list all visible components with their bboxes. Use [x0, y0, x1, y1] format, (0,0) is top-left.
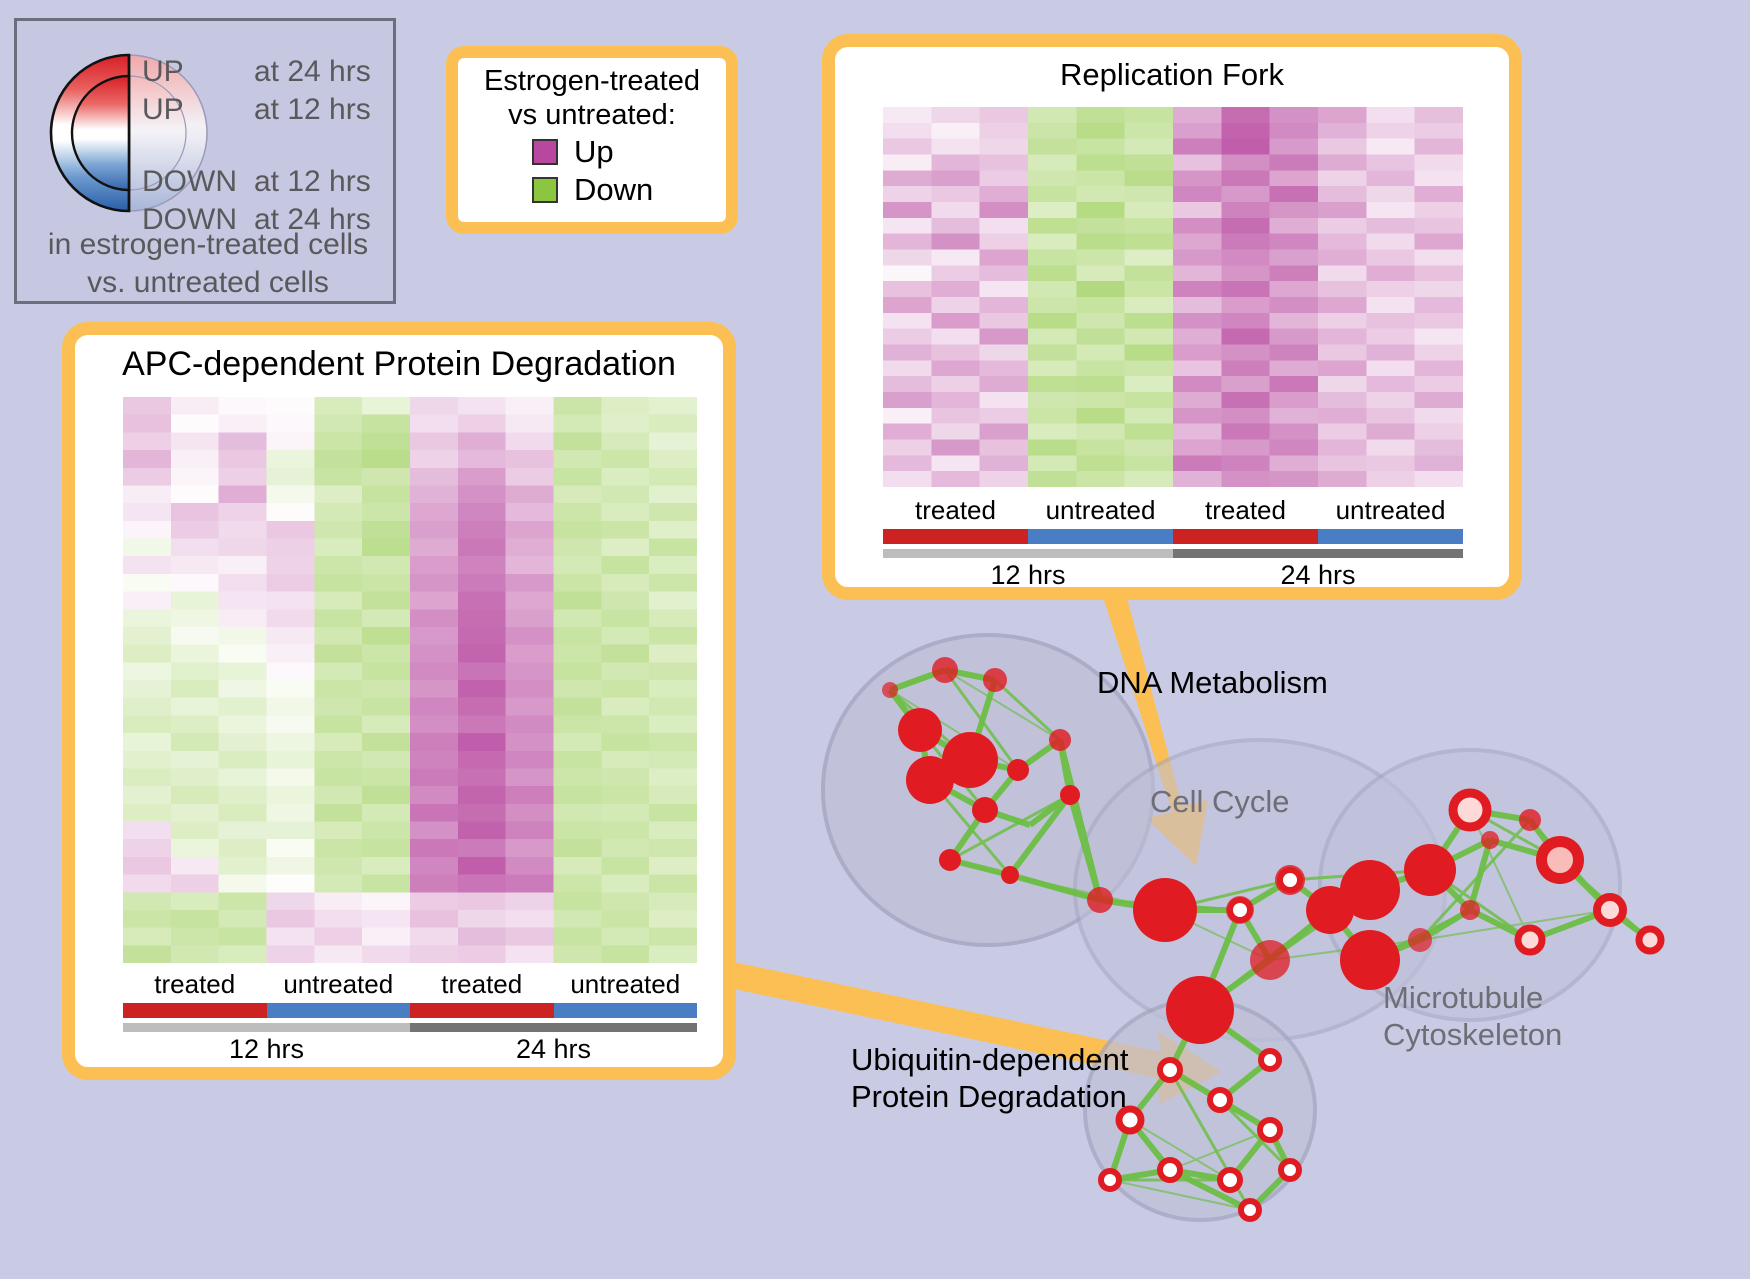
axis-group-label: treated — [123, 969, 267, 1000]
axis-group-label: treated — [1173, 495, 1318, 526]
microtubule-line1: Microtubule — [1383, 979, 1533, 1016]
axis-group-labels: treated untreated treated untreated — [123, 969, 697, 1000]
axis-time-label: 12 hrs — [883, 560, 1173, 591]
cluster-label-dna-metabolism: DNA Metabolism — [1097, 664, 1328, 701]
axis-group-label: untreated — [1028, 495, 1173, 526]
ubiquitin-line2: Protein Degradation — [851, 1078, 1129, 1115]
cluster-label-ubiquitin-protein-degradation: Ubiquitin-dependent Protein Degradation — [851, 1041, 1129, 1115]
panel-apc-protein-degradation: APC-dependent Protein Degradation treate… — [62, 322, 736, 1080]
bar-untreated-24 — [554, 1003, 698, 1018]
cluster-label-microtubule-cytoskeleton: Microtubule Cytoskeleton — [1383, 979, 1533, 1053]
bar-treated-24 — [1173, 529, 1318, 544]
heatmap-replication-fork — [883, 107, 1463, 487]
time-color-bar — [123, 1023, 697, 1032]
bar-untreated-12 — [267, 1003, 411, 1018]
bar-treated-24 — [410, 1003, 554, 1018]
treatment-color-bar — [123, 1003, 697, 1018]
axis-time-labels: 12 hrs 24 hrs — [123, 1034, 697, 1065]
axis-group-label: untreated — [554, 969, 698, 1000]
panel-title-apc: APC-dependent Protein Degradation — [75, 335, 723, 384]
heatmap-apc — [123, 397, 697, 963]
figure-canvas: UP at 24 hrs UP at 12 hrs DOWN at 12 hrs… — [0, 0, 1750, 1279]
cluster-label-cell-cycle: Cell Cycle — [1150, 783, 1290, 820]
axis-time-label: 24 hrs — [1173, 560, 1463, 591]
axis-apc: treated untreated treated untreated 12 h… — [123, 969, 697, 1065]
axis-time-label: 12 hrs — [123, 1034, 410, 1065]
bar-time-24 — [1173, 549, 1463, 558]
bar-treated-12 — [883, 529, 1028, 544]
bar-treated-12 — [123, 1003, 267, 1018]
axis-group-labels: treated untreated treated untreated — [883, 495, 1463, 526]
bar-untreated-24 — [1318, 529, 1463, 544]
time-color-bar — [883, 549, 1463, 558]
axis-time-label: 24 hrs — [410, 1034, 697, 1065]
treatment-color-bar — [883, 529, 1463, 544]
panel-replication-fork: Replication Fork treated untreated treat… — [822, 34, 1522, 600]
axis-group-label: untreated — [267, 969, 411, 1000]
ubiquitin-line1: Ubiquitin-dependent — [851, 1041, 1129, 1078]
bar-time-12 — [123, 1023, 410, 1032]
axis-time-labels: 12 hrs 24 hrs — [883, 560, 1463, 591]
axis-group-label: treated — [883, 495, 1028, 526]
axis-group-label: untreated — [1318, 495, 1463, 526]
axis-group-label: treated — [410, 969, 554, 1000]
bar-untreated-12 — [1028, 529, 1173, 544]
bar-time-24 — [410, 1023, 697, 1032]
bar-time-12 — [883, 549, 1173, 558]
panel-title-replication-fork: Replication Fork — [835, 47, 1509, 93]
network-diagram — [770, 610, 1750, 1279]
axis-replication-fork: treated untreated treated untreated 12 h… — [883, 495, 1463, 591]
microtubule-line2: Cytoskeleton — [1383, 1016, 1533, 1053]
